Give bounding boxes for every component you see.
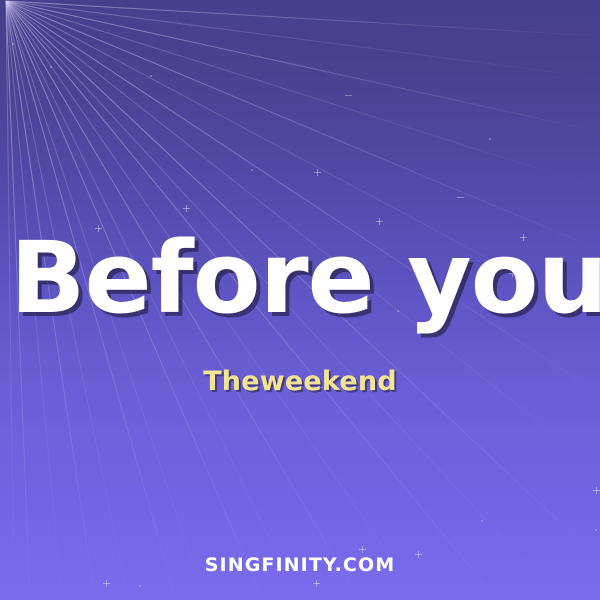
lyric-quote-card: Before you go Theweekend SINGFINITY.COM [0, 0, 600, 600]
sparkle-dash-icon [457, 197, 464, 198]
sparkle-dash-icon [345, 95, 352, 96]
sparkle-dot-icon [150, 75, 152, 77]
artist-row: Theweekend [0, 366, 600, 397]
sparkle-dot-icon [489, 138, 491, 140]
brand-footer-row: SINGFINITY.COM [0, 554, 600, 576]
sparkle-dot-icon [50, 66, 52, 68]
sparkle-dot-icon [251, 169, 253, 171]
sparkle-dot-icon [481, 520, 483, 522]
sparkle-dot-icon [595, 529, 597, 531]
artist-name: Theweekend [203, 366, 397, 397]
lyric-title: Before you go [10, 228, 600, 331]
lyric-title-row: Before you go [10, 228, 600, 331]
brand-wordmark: SINGFINITY.COM [205, 554, 395, 576]
sparkle-dot-icon [139, 585, 141, 587]
sparkle-dot-icon [12, 43, 14, 45]
